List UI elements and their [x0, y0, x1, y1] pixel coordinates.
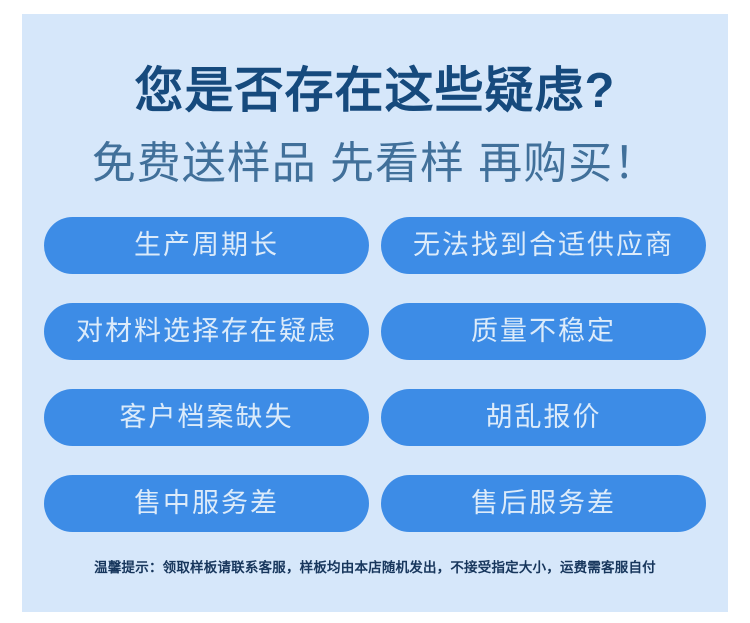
pain-point-row: 售中服务差 售后服务差 [44, 475, 706, 532]
pain-point-label: 生产周期长 [134, 232, 279, 259]
promo-panel: 您是否存在这些疑虑? 免费送样品 先看样 再购买！ 生产周期长 无法找到合适供应… [22, 14, 728, 612]
pain-point-pill[interactable]: 无法找到合适供应商 [381, 217, 706, 274]
pain-point-label: 售后服务差 [471, 490, 616, 517]
page-title: 您是否存在这些疑虑? [135, 66, 616, 118]
pain-point-row: 客户档案缺失 胡乱报价 [44, 389, 706, 446]
pain-point-label: 胡乱报价 [486, 404, 602, 431]
pain-point-pill[interactable]: 对材料选择存在疑虑 [44, 303, 369, 360]
pain-point-pill[interactable]: 胡乱报价 [381, 389, 706, 446]
pain-point-row: 对材料选择存在疑虑 质量不稳定 [44, 303, 706, 360]
pain-point-row: 生产周期长 无法找到合适供应商 [44, 217, 706, 274]
pain-point-pill[interactable]: 售后服务差 [381, 475, 706, 532]
pain-point-pill[interactable]: 客户档案缺失 [44, 389, 369, 446]
pain-point-label: 售中服务差 [134, 490, 279, 517]
pain-point-label: 客户档案缺失 [120, 404, 294, 431]
pain-point-pill[interactable]: 质量不稳定 [381, 303, 706, 360]
pain-point-pill[interactable]: 售中服务差 [44, 475, 369, 532]
pain-point-pill[interactable]: 生产周期长 [44, 217, 369, 274]
pain-point-label: 对材料选择存在疑虑 [76, 318, 337, 345]
footer-note: 温馨提示：领取样板请联系客服，样板均由本店随机发出，不接受指定大小，运费需客服自… [94, 556, 656, 576]
pain-point-grid: 生产周期长 无法找到合适供应商 对材料选择存在疑虑 质量不稳定 客户档案缺失 胡… [22, 217, 728, 532]
pain-point-label: 质量不稳定 [471, 318, 616, 345]
pain-point-label: 无法找到合适供应商 [413, 232, 674, 259]
page-subtitle: 免费送样品 先看样 再购买！ [92, 140, 658, 188]
